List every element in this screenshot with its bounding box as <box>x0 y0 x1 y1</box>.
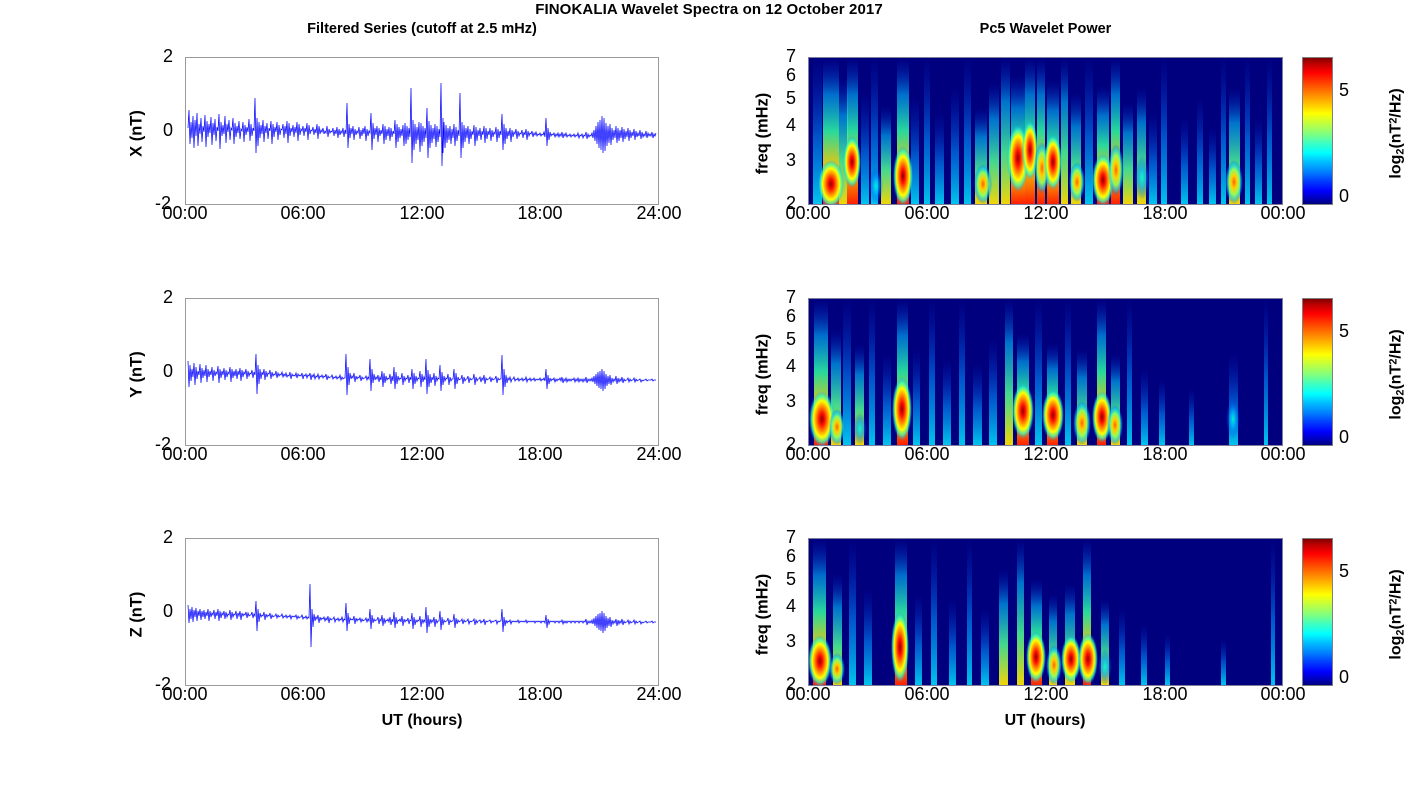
xtick-right-2-1800: 18:00 <box>1125 444 1205 465</box>
xtick-left-1-1800: 18:00 <box>500 203 580 224</box>
xtick-left-2-0000: 00:00 <box>145 444 225 465</box>
xtick-left-3-0000: 00:00 <box>145 684 225 705</box>
cb-suf-3: /Hz) <box>1388 569 1405 598</box>
cbtick-2-5: 5 <box>1339 321 1349 342</box>
xtick-left-2-2400: 24:00 <box>619 444 699 465</box>
timeseries-plot-x <box>185 57 659 205</box>
cb-sup-2: 2 <box>1388 359 1400 365</box>
spectrogram-y <box>808 298 1283 446</box>
ftick-1-5: 5 <box>786 88 796 109</box>
cbtick-1-0: 0 <box>1339 186 1349 207</box>
right-column-title: Pc5 Wavelet Power <box>808 21 1283 37</box>
timeseries-trace-x <box>186 58 658 204</box>
xtick-left-1-2400: 24:00 <box>619 203 699 224</box>
cb-sup-3: 2 <box>1388 599 1400 605</box>
xtick-left-1-1200: 12:00 <box>382 203 462 224</box>
xtick-left-3-1200: 12:00 <box>382 684 462 705</box>
colorbar-label-3: log2(nT2/Hz) <box>1388 534 1407 694</box>
xtick-left-3-2400: 24:00 <box>619 684 699 705</box>
xtick-right-2-1200: 12:00 <box>1006 444 1086 465</box>
cbtick-1-5: 5 <box>1339 80 1349 101</box>
spectrogram-z <box>808 538 1283 686</box>
ftick-3-3: 3 <box>786 631 796 652</box>
xtick-right-1-0000b: 00:00 <box>1243 203 1323 224</box>
figure-title: FINOKALIA Wavelet Spectra on 12 October … <box>0 1 1418 18</box>
colorbar-3 <box>1302 538 1333 686</box>
ftick-2-7: 7 <box>786 287 796 308</box>
xlabel-left: UT (hours) <box>285 712 559 730</box>
ylabel-freq-2: freq (mHz) <box>754 315 773 435</box>
timeseries-plot-z <box>185 538 659 686</box>
xtick-left-3-0600: 06:00 <box>263 684 343 705</box>
colorbar-1 <box>1302 57 1333 205</box>
cb-log-3: log <box>1388 636 1405 660</box>
ftick-2-3: 3 <box>786 391 796 412</box>
xtick-right-1-1800: 18:00 <box>1125 203 1205 224</box>
cb-sub-3: 2 <box>1394 630 1406 636</box>
ylabel-x: X (nT) <box>128 74 147 194</box>
colorbar-label-2: log2(nT2/Hz) <box>1388 294 1407 454</box>
xtick-right-3-0600: 06:00 <box>887 684 967 705</box>
cb-sub-2: 2 <box>1394 390 1406 396</box>
xlabel-right: UT (hours) <box>908 712 1182 730</box>
cb-log-2: log <box>1388 396 1405 420</box>
xtick-right-2-0000a: 00:00 <box>768 444 848 465</box>
cb-mid-2: (nT <box>1388 365 1405 390</box>
ytick-y-2: 2 <box>163 287 173 308</box>
xtick-left-1-0600: 06:00 <box>263 203 343 224</box>
ftick-2-6: 6 <box>786 306 796 327</box>
xtick-right-1-0000a: 00:00 <box>768 203 848 224</box>
timeseries-trace-y <box>186 299 658 445</box>
spectrogram-x <box>808 57 1283 205</box>
ftick-3-4: 4 <box>786 596 796 617</box>
xtick-left-3-1800: 18:00 <box>500 684 580 705</box>
ftick-1-4: 4 <box>786 115 796 136</box>
xtick-right-1-0600: 06:00 <box>887 203 967 224</box>
ftick-3-6: 6 <box>786 546 796 567</box>
xtick-right-1-1200: 12:00 <box>1006 203 1086 224</box>
spectrogram-y-canvas <box>809 299 1282 445</box>
cbtick-2-0: 0 <box>1339 427 1349 448</box>
ytick-x-0: 0 <box>163 120 173 141</box>
ftick-2-5: 5 <box>786 329 796 350</box>
cb-mid-1: (nT <box>1388 124 1405 149</box>
cb-sub-1: 2 <box>1394 149 1406 155</box>
cb-sup-1: 2 <box>1388 118 1400 124</box>
cb-mid-3: (nT <box>1388 605 1405 630</box>
cb-suf-1: /Hz) <box>1388 88 1405 117</box>
ylabel-z: Z (nT) <box>128 555 147 675</box>
ytick-z-2: 2 <box>163 527 173 548</box>
ytick-x-2: 2 <box>163 46 173 67</box>
xtick-left-2-0600: 06:00 <box>263 444 343 465</box>
cb-log-1: log <box>1388 155 1405 179</box>
cbtick-3-5: 5 <box>1339 561 1349 582</box>
ylabel-freq-1: freq (mHz) <box>754 74 773 194</box>
ylabel-y: Y (nT) <box>128 315 147 435</box>
ftick-2-4: 4 <box>786 356 796 377</box>
colorbar-label-1: log2(nT2/Hz) <box>1388 53 1407 213</box>
spectrogram-x-canvas <box>809 58 1282 204</box>
xtick-right-2-0000b: 00:00 <box>1243 444 1323 465</box>
xtick-left-2-1800: 18:00 <box>500 444 580 465</box>
cbtick-3-0: 0 <box>1339 667 1349 688</box>
ftick-1-6: 6 <box>786 65 796 86</box>
ftick-3-7: 7 <box>786 527 796 548</box>
ftick-1-3: 3 <box>786 150 796 171</box>
ylabel-freq-3: freq (mHz) <box>754 555 773 675</box>
xtick-right-3-1200: 12:00 <box>1006 684 1086 705</box>
ytick-z-0: 0 <box>163 601 173 622</box>
xtick-left-1-0000: 00:00 <box>145 203 225 224</box>
colorbar-2 <box>1302 298 1333 446</box>
ftick-1-7: 7 <box>786 46 796 67</box>
xtick-right-3-0000a: 00:00 <box>768 684 848 705</box>
xtick-right-3-0000b: 00:00 <box>1243 684 1323 705</box>
ftick-3-5: 5 <box>786 569 796 590</box>
xtick-right-3-1800: 18:00 <box>1125 684 1205 705</box>
timeseries-trace-z <box>186 539 658 685</box>
xtick-right-2-0600: 06:00 <box>887 444 967 465</box>
left-column-title: Filtered Series (cutoff at 2.5 mHz) <box>185 21 659 37</box>
cb-suf-2: /Hz) <box>1388 329 1405 358</box>
xtick-left-2-1200: 12:00 <box>382 444 462 465</box>
spectrogram-z-canvas <box>809 539 1282 685</box>
ytick-y-0: 0 <box>163 361 173 382</box>
timeseries-plot-y <box>185 298 659 446</box>
